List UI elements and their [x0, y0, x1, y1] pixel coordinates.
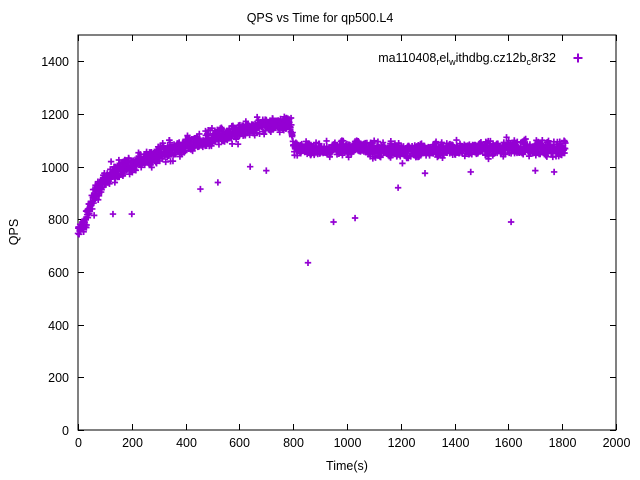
- y-tick-label: 400: [48, 319, 69, 333]
- x-tick-label: 1400: [442, 436, 470, 450]
- x-tick-label: 800: [283, 436, 304, 450]
- y-axis-label: QPS: [7, 219, 21, 245]
- x-tick-label: 1600: [495, 436, 523, 450]
- chart-canvas: QPS vs Time for qp500.L4 020040060080010…: [0, 0, 640, 480]
- x-tick-label: 400: [176, 436, 197, 450]
- qps-vs-time-scatter-chart: QPS vs Time for qp500.L4 020040060080010…: [0, 0, 640, 480]
- chart-title: QPS vs Time for qp500.L4: [247, 11, 394, 25]
- y-tick-label: 800: [48, 213, 69, 227]
- y-tick-label: 600: [48, 266, 69, 280]
- y-tick-label: 1200: [41, 108, 69, 122]
- y-tick-label: 200: [48, 371, 69, 385]
- x-tick-label: 600: [229, 436, 250, 450]
- x-tick-label: 1200: [388, 436, 416, 450]
- y-tick-label: 1400: [41, 55, 69, 69]
- chart-background: [0, 0, 640, 480]
- chart-legend[interactable]: ma110408relwithdbg.cz12bc8r32: [378, 51, 582, 67]
- y-tick-label: 1000: [41, 161, 69, 175]
- x-tick-label: 2000: [603, 436, 631, 450]
- x-axis-label: Time(s): [326, 459, 368, 473]
- x-tick-label: 1000: [334, 436, 362, 450]
- x-tick-label: 0: [75, 436, 82, 450]
- x-tick-label: 200: [122, 436, 143, 450]
- y-tick-label: 0: [62, 424, 69, 438]
- x-tick-label: 1800: [549, 436, 577, 450]
